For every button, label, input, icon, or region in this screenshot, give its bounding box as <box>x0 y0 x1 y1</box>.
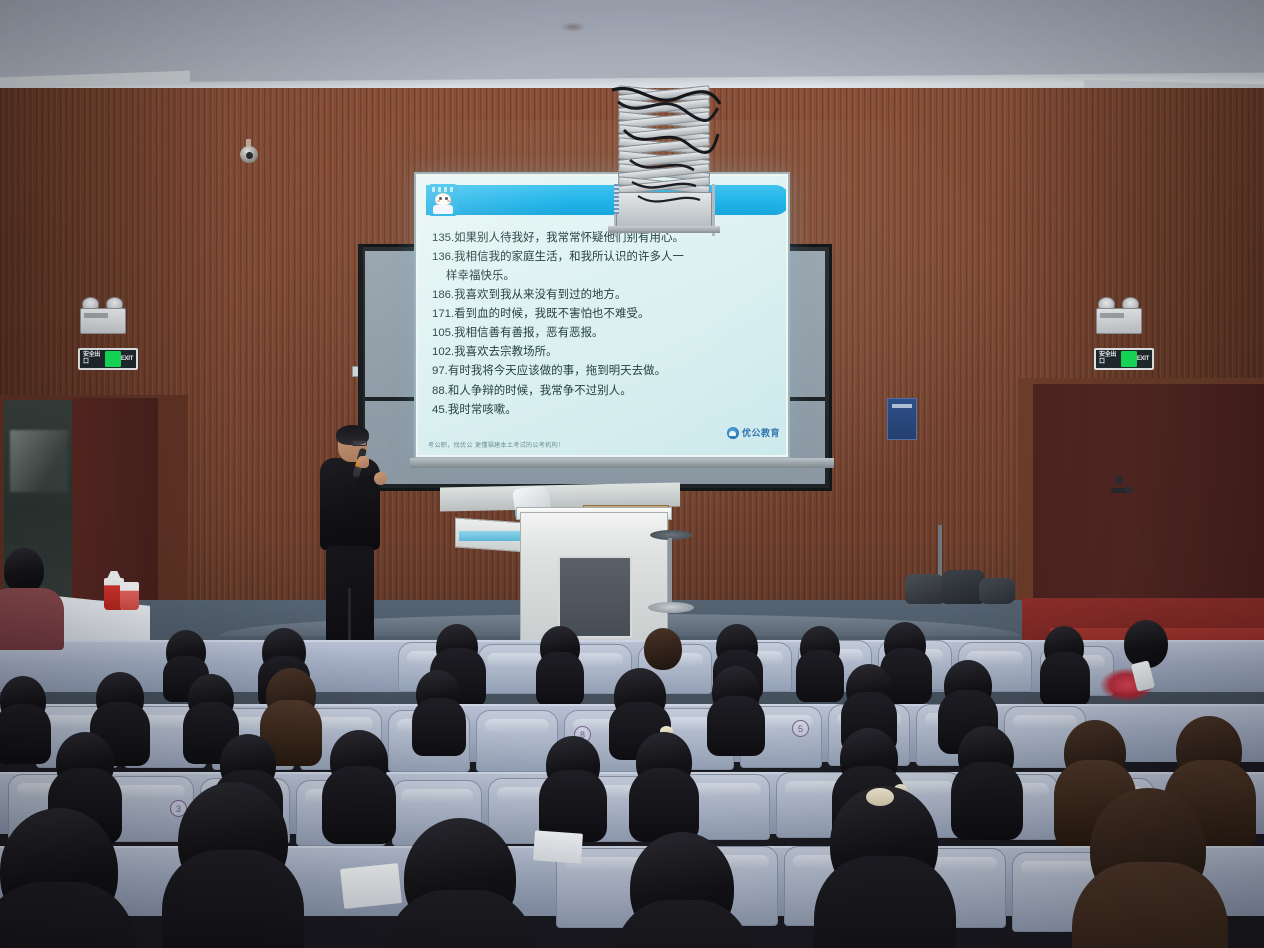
running-man-icon-right <box>1121 351 1137 367</box>
side-desk-blue-panel <box>459 531 521 541</box>
person-shoulders <box>0 588 64 650</box>
exit-sign-en-left: EXIT <box>121 356 133 363</box>
floor-bags <box>905 566 1017 604</box>
wall-notice-board <box>887 398 917 440</box>
cartoon-mascot-icon <box>428 184 458 216</box>
projector-base-plate <box>608 226 720 233</box>
person-hair <box>629 768 699 842</box>
floor-bag-1 <box>905 574 945 604</box>
slide-question-list: 135.如果别人待我好，我常常怀疑他们别有用心。 136.我相信我的家庭生活，和… <box>432 228 778 419</box>
brand-logo-text: 优公教育 <box>742 426 780 439</box>
exit-sign-cn-left: 安全出口 <box>83 352 105 366</box>
slide-line-text: 我时常咳嗽。 <box>448 402 517 416</box>
drink-cup-pink <box>120 582 139 610</box>
person-hair <box>412 698 466 756</box>
emergency-light-icon <box>80 296 126 336</box>
slide-line: 45.我时常咳嗽。 <box>432 400 778 419</box>
slide-line-number: 186. <box>432 289 454 301</box>
slide-line-text: 我喜欢到我从来没有到过的地方。 <box>454 287 626 301</box>
brand-logo: 优公教育 <box>727 426 780 439</box>
stool-leg <box>668 538 672 606</box>
slide-line-number: 105. <box>432 327 454 339</box>
slide-line: 88.和人争辩的时候，我常争不过别人。 <box>432 381 778 400</box>
slide-line: 171.看到血的时候，我既不害怕也不难受。 <box>432 304 778 323</box>
slide-line-number: 88. <box>432 385 448 397</box>
emergency-light-label-2 <box>1100 313 1124 318</box>
slide-line-number: 171. <box>432 308 454 320</box>
slide-line-number: 135. <box>432 232 454 244</box>
door-lock-icon <box>1115 476 1123 484</box>
paper-sheet <box>340 863 402 909</box>
slide-line-number: 97. <box>432 365 448 377</box>
running-man-icon <box>105 351 121 367</box>
person-hair <box>707 696 765 756</box>
projector-body <box>616 192 712 228</box>
speaker-torso <box>320 458 380 550</box>
person-hair <box>1040 652 1090 706</box>
person-hair <box>0 704 51 764</box>
mascot-cheek-left <box>437 200 440 202</box>
slide-line: 136.我相信我的家庭生活，和我所认识的许多人一 <box>432 247 778 266</box>
person-hair <box>796 650 844 702</box>
floor-bag-3 <box>979 578 1015 604</box>
slide-line-number: 102. <box>432 346 454 358</box>
brand-logo-mark-icon <box>727 427 739 439</box>
slide-line: 186.我喜欢到我从来没有到过的地方。 <box>432 285 778 304</box>
exit-sign-cn-right: 安全出口 <box>1099 352 1121 366</box>
person-hair <box>322 766 396 844</box>
dome-camera-icon <box>240 146 258 163</box>
person-hair <box>951 762 1023 840</box>
emergency-light-body-2 <box>1096 308 1142 334</box>
slide-line: 102.我喜欢去宗教场所。 <box>432 342 778 361</box>
door-panel-right[interactable] <box>1033 384 1264 634</box>
ceiling-projector-icon <box>600 80 730 220</box>
slide-footer-tagline: 考公职，找优公 更懂福建本土考试的公考机构！ <box>428 440 564 449</box>
person-head <box>644 628 682 670</box>
lecture-hall-photo: 安全出口 EXIT 安全出口 EXIT <box>0 0 1264 948</box>
screen-bottom-rail <box>410 458 834 468</box>
emergency-light-body <box>80 308 126 334</box>
scissor-lift-mount <box>618 90 710 200</box>
person-hair <box>162 850 304 948</box>
slide-line: 105.我相信善有善报，恶有恶报。 <box>432 323 778 342</box>
slide-line: 135.如果别人待我好，我常常怀疑他们别有用心。 <box>432 228 778 247</box>
speaker-hand <box>374 472 387 485</box>
slide-line-text: 看到血的时候，我既不害怕也不难受。 <box>454 306 649 320</box>
speaker-hand-mic <box>358 456 369 468</box>
mascot-cheek-right <box>447 200 450 202</box>
audience-area: 8 5 <box>0 620 1264 948</box>
door-handle-icon[interactable] <box>1111 488 1129 493</box>
slide-line-text: 有时我将今天应该做的事，拖到明天去做。 <box>448 363 666 377</box>
slide-line-text: 和人争辩的时候，我常争不过别人。 <box>448 383 632 397</box>
slide-line-number: 136. <box>432 251 454 263</box>
slide-line-continuation: 样幸福快乐。 <box>432 266 778 284</box>
exit-sign-en-right: EXIT <box>1137 356 1149 363</box>
exit-sign-left: 安全出口 EXIT <box>78 348 138 370</box>
slide-line-text: 我喜欢去宗教场所。 <box>454 344 557 358</box>
slide-line-number: 45. <box>432 404 448 416</box>
person-hair <box>536 652 584 706</box>
slide-line: 97.有时我将今天应该做的事，拖到明天去做。 <box>432 361 778 380</box>
slide-line-text: 我相信我的家庭生活，和我所认识的许多人一 <box>454 249 684 263</box>
mascot-body <box>433 205 453 214</box>
exit-sign-right: 安全出口 EXIT <box>1094 348 1154 370</box>
glasses-icon <box>352 440 367 446</box>
paper-sheet <box>533 830 583 863</box>
projector-vent <box>614 184 619 214</box>
slide-line-text: 我相信善有善报，恶有恶报。 <box>454 325 603 339</box>
person-hair <box>814 856 956 948</box>
emergency-light-label <box>84 313 108 318</box>
hair-scrunchie <box>866 788 894 806</box>
ceiling-stain <box>560 22 586 32</box>
slide-footer: 考公职，找优公 更懂福建本土考试的公考机构！ 优公教育 <box>428 426 780 449</box>
mascot-dots <box>432 187 454 192</box>
seat-number-badge: 5 <box>792 720 809 737</box>
stool-base <box>648 602 694 613</box>
emergency-light-icon-right <box>1096 296 1142 336</box>
